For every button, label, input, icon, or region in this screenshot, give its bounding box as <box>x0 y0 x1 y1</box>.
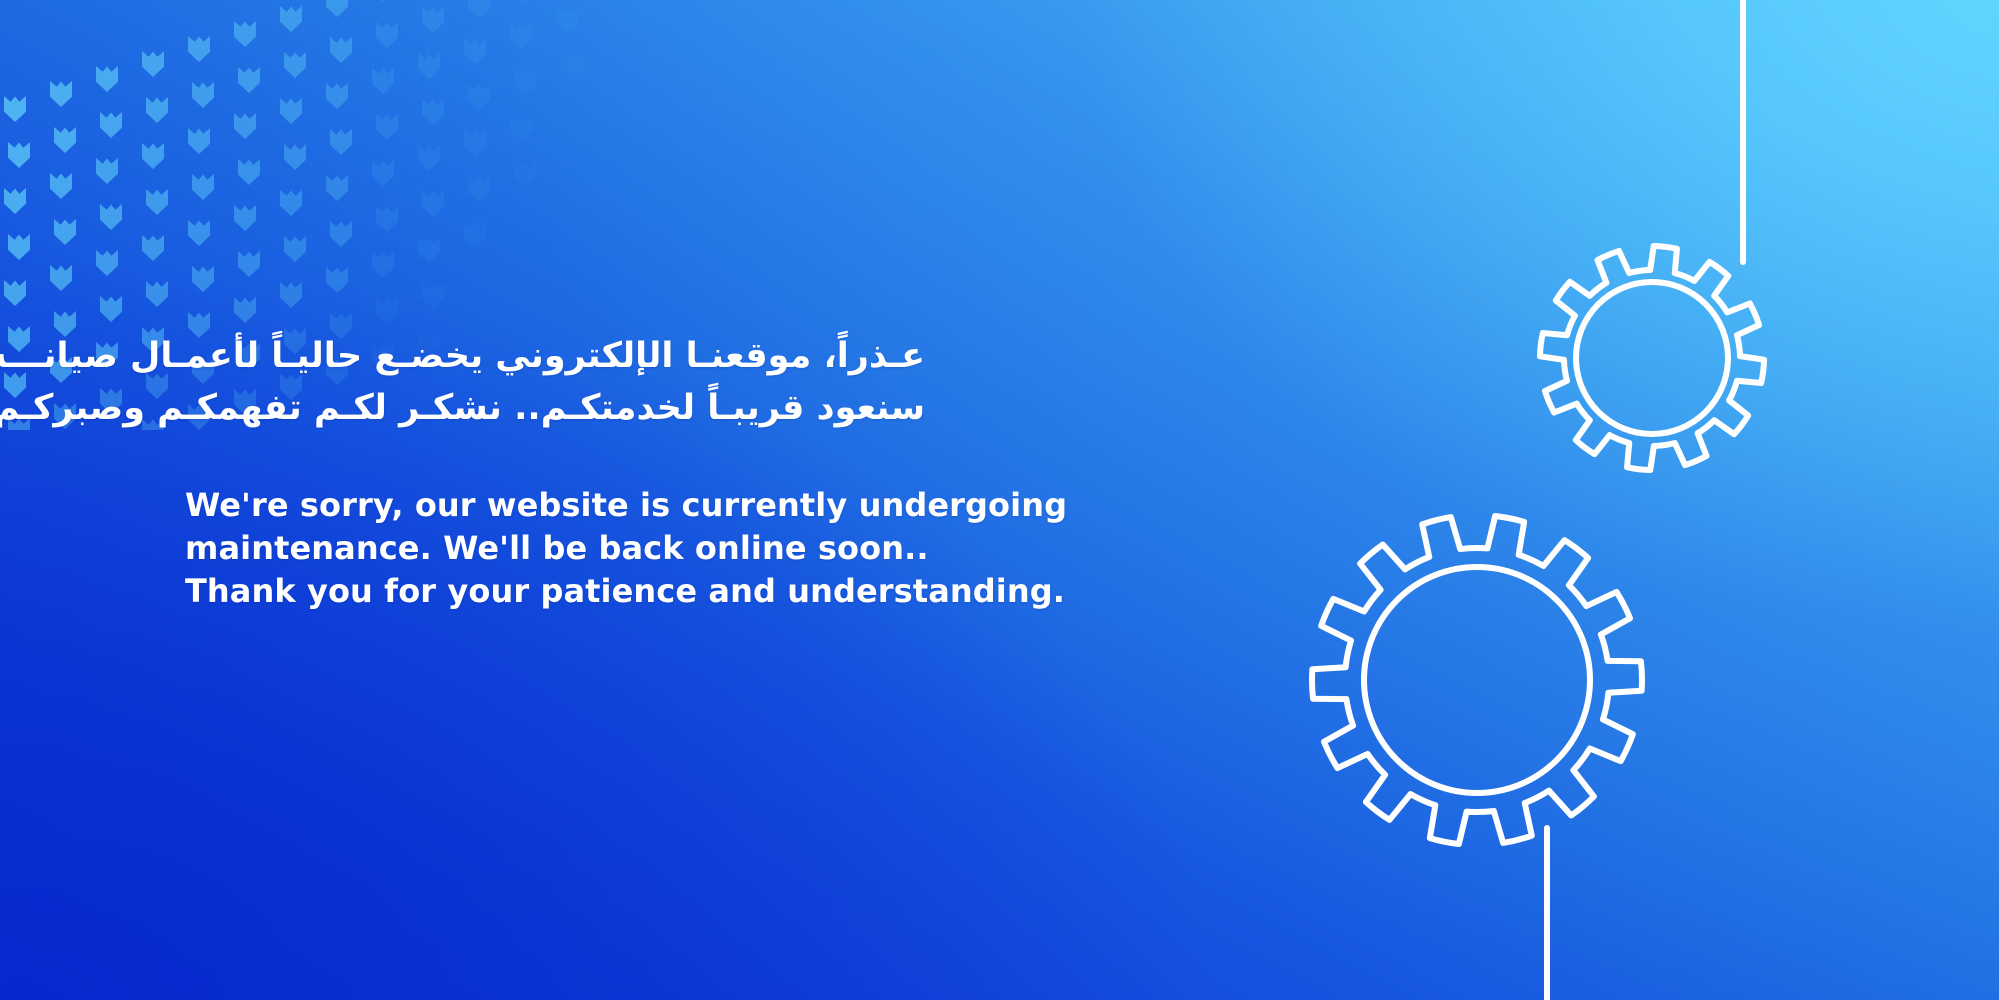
english-line-2: maintenance. We'll be back online soon.. <box>185 527 1185 570</box>
english-line-3: Thank you for your patience and understa… <box>185 570 1185 613</box>
message-block: عـذراً، موقعنـا الإلكتروني يخضـع حاليـاً… <box>185 330 1185 613</box>
english-message: We're sorry, our website is currently un… <box>185 484 1185 613</box>
gears-illustration <box>1239 0 1999 1000</box>
gears-svg <box>1239 0 1999 1000</box>
english-line-1: We're sorry, our website is currently un… <box>185 484 1185 527</box>
arabic-line-1: عـذراً، موقعنـا الإلكتروني يخضـع حاليـاً… <box>185 330 925 382</box>
arabic-line-2: سنعود قريبـاً لخدمتكـم.. نشكـر لكـم تفهم… <box>185 382 925 434</box>
arabic-message: عـذراً، موقعنـا الإلكتروني يخضـع حاليـاً… <box>185 330 925 434</box>
maintenance-page: عـذراً، موقعنـا الإلكتروني يخضـع حاليـاً… <box>0 0 1999 1000</box>
